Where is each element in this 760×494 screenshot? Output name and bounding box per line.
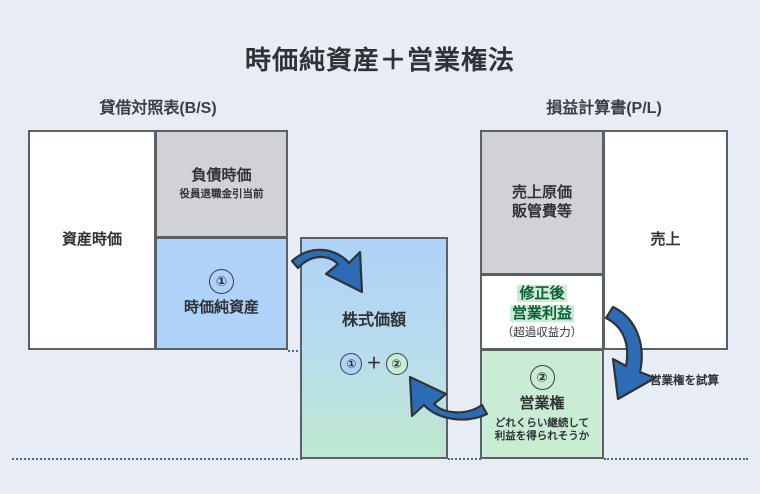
pl-operating-profit-label-line2: 営業利益 bbox=[510, 305, 574, 322]
bs-net-asset-label: 時価純資産 bbox=[184, 299, 259, 318]
share-value-label: 株式価額 bbox=[342, 311, 406, 331]
pl-operating-profit-label-line1: 修正後 bbox=[517, 285, 566, 302]
marker-one-icon: ① bbox=[340, 353, 362, 375]
marker-one-net-asset-icon: ① bbox=[209, 269, 234, 294]
pl-cost-label-line2: 販管費等 bbox=[512, 203, 572, 222]
guide-line-bottom-mid bbox=[448, 458, 481, 460]
bs-asset-cell: 資産時価 bbox=[28, 130, 156, 350]
profit-loss-heading: 損益計算書(P/L) bbox=[480, 94, 728, 118]
pl-goodwill-sublabel-line2: 利益を得られそうか bbox=[495, 430, 590, 443]
guide-line-mid bbox=[288, 350, 302, 352]
bs-liability-label: 負債時価 bbox=[191, 167, 251, 186]
diagram-canvas: 時価純資産＋営業権法 貸借対照表(B/S) 損益計算書(P/L) 資産時価 負債… bbox=[0, 0, 760, 494]
pl-cost-cell: 売上原価 販管費等 bbox=[480, 130, 604, 275]
bs-liability-cell: 負債時価 役員退職金引当前 bbox=[155, 130, 288, 238]
share-value-cell: 株式価額 ① ＋ ② bbox=[300, 237, 448, 459]
marker-two-icon: ② bbox=[386, 353, 408, 375]
pl-cost-label-line1: 売上原価 bbox=[512, 184, 572, 203]
pl-sales-cell: 売上 bbox=[603, 130, 728, 350]
bs-asset-label: 資産時価 bbox=[62, 231, 122, 250]
page-title: 時価純資産＋営業権法 bbox=[0, 40, 760, 77]
goodwill-estimate-annotation: 営業権を試算 bbox=[650, 372, 719, 388]
pl-goodwill-sublabel-line1: どれくらい継続して bbox=[495, 417, 589, 430]
formula-operator: ＋ bbox=[366, 355, 381, 374]
share-value-formula: ① ＋ ② bbox=[340, 353, 407, 375]
guide-line-bottom-right bbox=[604, 458, 748, 460]
pl-goodwill-cell: ② 営業権 どれくらい継続して 利益を得られそうか bbox=[480, 349, 604, 459]
pl-operating-profit-note: （超過収益力） bbox=[502, 326, 583, 340]
bs-net-asset-cell: ① 時価純資産 bbox=[155, 237, 288, 350]
balance-sheet-heading: 貸借対照表(B/S) bbox=[28, 94, 288, 118]
bs-liability-sublabel: 役員退職金引当前 bbox=[180, 188, 264, 201]
pl-operating-profit-cell: 修正後 営業利益 （超過収益力） bbox=[480, 274, 604, 350]
pl-sales-label: 売上 bbox=[650, 231, 680, 250]
guide-line-bottom-left bbox=[12, 458, 302, 460]
pl-goodwill-label: 営業権 bbox=[519, 395, 564, 414]
marker-two-goodwill-icon: ② bbox=[530, 365, 555, 390]
